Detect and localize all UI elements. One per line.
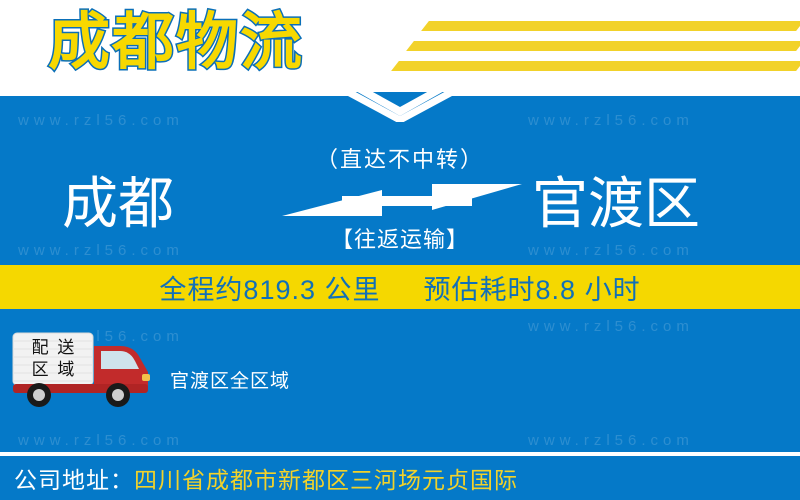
watermark-4: www.rzl56.com	[528, 318, 694, 335]
truck-box-label-line2: 区 域	[32, 359, 77, 381]
distance-text: 全程约819.3 公里	[159, 275, 380, 305]
duration-text: 预估耗时8.8 小时	[424, 275, 641, 305]
address-label: 公司地址：	[0, 461, 134, 495]
decorative-stripe-3	[391, 61, 800, 71]
truck-box-label-line1: 配 送	[32, 337, 77, 359]
bidirectional-arrow-icon	[282, 176, 522, 220]
logistics-route-poster: www.rzl56.comwww.rzl56.comwww.rzl56.comw…	[0, 0, 800, 500]
watermark-7: www.rzl56.com	[528, 432, 694, 449]
page-title: 成都物流	[48, 4, 304, 82]
roundtrip-tag: 【往返运输】	[0, 222, 800, 254]
trip-info-text: 全程约819.3 公里 预估耗时8.8 小时	[159, 268, 640, 307]
delivery-truck: 配 送 区 域	[8, 330, 154, 408]
decorative-stripe-2	[406, 41, 800, 51]
route-arrow	[282, 176, 522, 220]
truck-box-label: 配 送 区 域	[18, 336, 90, 382]
watermark-6: www.rzl56.com	[18, 432, 184, 449]
footer-bar: 公司地址： 四川省成都市新都区三河场元贞国际	[0, 456, 800, 500]
chevron-divider	[0, 86, 800, 122]
chevron-down-icon	[0, 86, 800, 122]
direct-shipping-tag: （直达不中转）	[0, 142, 800, 174]
trip-info-banner: 全程约819.3 公里 预估耗时8.8 小时	[0, 265, 800, 309]
delivery-area-text: 官渡区全区域	[170, 366, 290, 393]
address-value: 四川省成都市新都区三河场元贞国际	[134, 461, 518, 495]
decorative-stripe-1	[421, 21, 800, 31]
